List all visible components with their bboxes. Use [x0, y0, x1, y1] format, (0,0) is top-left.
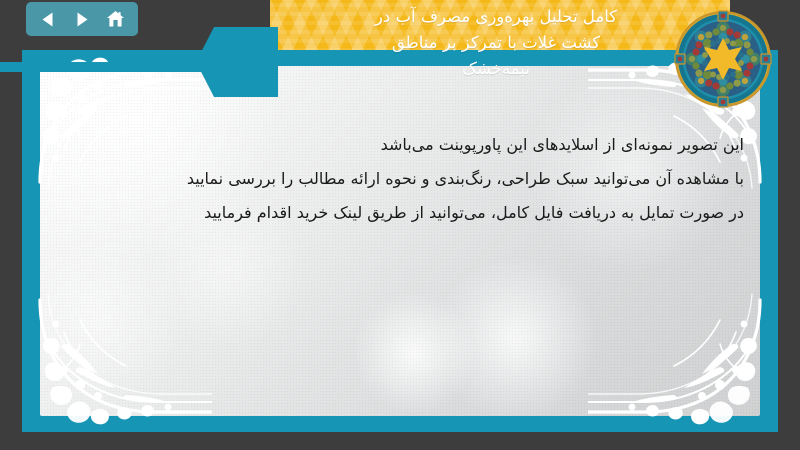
content-frame: این تصویر نمونه‌ای از اسلایدهای این پاور…	[22, 50, 778, 432]
home-icon	[106, 10, 125, 28]
slide-body-text: این تصویر نمونه‌ای از اسلایدهای این پاور…	[56, 128, 744, 230]
slide-viewer: کامل تحلیل بهره‌وری مصرف آب در کشت غلات …	[0, 0, 800, 450]
teal-tail-bar	[0, 62, 210, 72]
content-surface	[40, 66, 760, 416]
halftone-texture	[40, 66, 760, 416]
body-line-1: این تصویر نمونه‌ای از اسلایدهای این پاور…	[56, 128, 744, 162]
navigation-toolbar	[26, 2, 138, 36]
forward-button[interactable]	[69, 7, 95, 31]
body-line-3: در صورت تمایل به دریافت فایل کامل، می‌تو…	[56, 196, 744, 230]
page-title: کامل تحلیل بهره‌وری مصرف آب در کشت غلات …	[280, 4, 712, 82]
title-line-3: نیمه‌خشک	[280, 56, 712, 82]
triangle-left-icon	[40, 11, 57, 28]
title-line-2: کشت غلات با تمرکز بر مناطق	[280, 30, 712, 56]
persian-medallion-ornament	[672, 8, 774, 110]
back-button[interactable]	[36, 7, 62, 31]
body-line-2: با مشاهده آن می‌توانید سبک طراحی، رنگ‌بن…	[56, 162, 744, 196]
title-line-1: کامل تحلیل بهره‌وری مصرف آب در	[280, 4, 712, 30]
triangle-right-icon	[73, 11, 90, 28]
home-button[interactable]	[102, 7, 128, 31]
